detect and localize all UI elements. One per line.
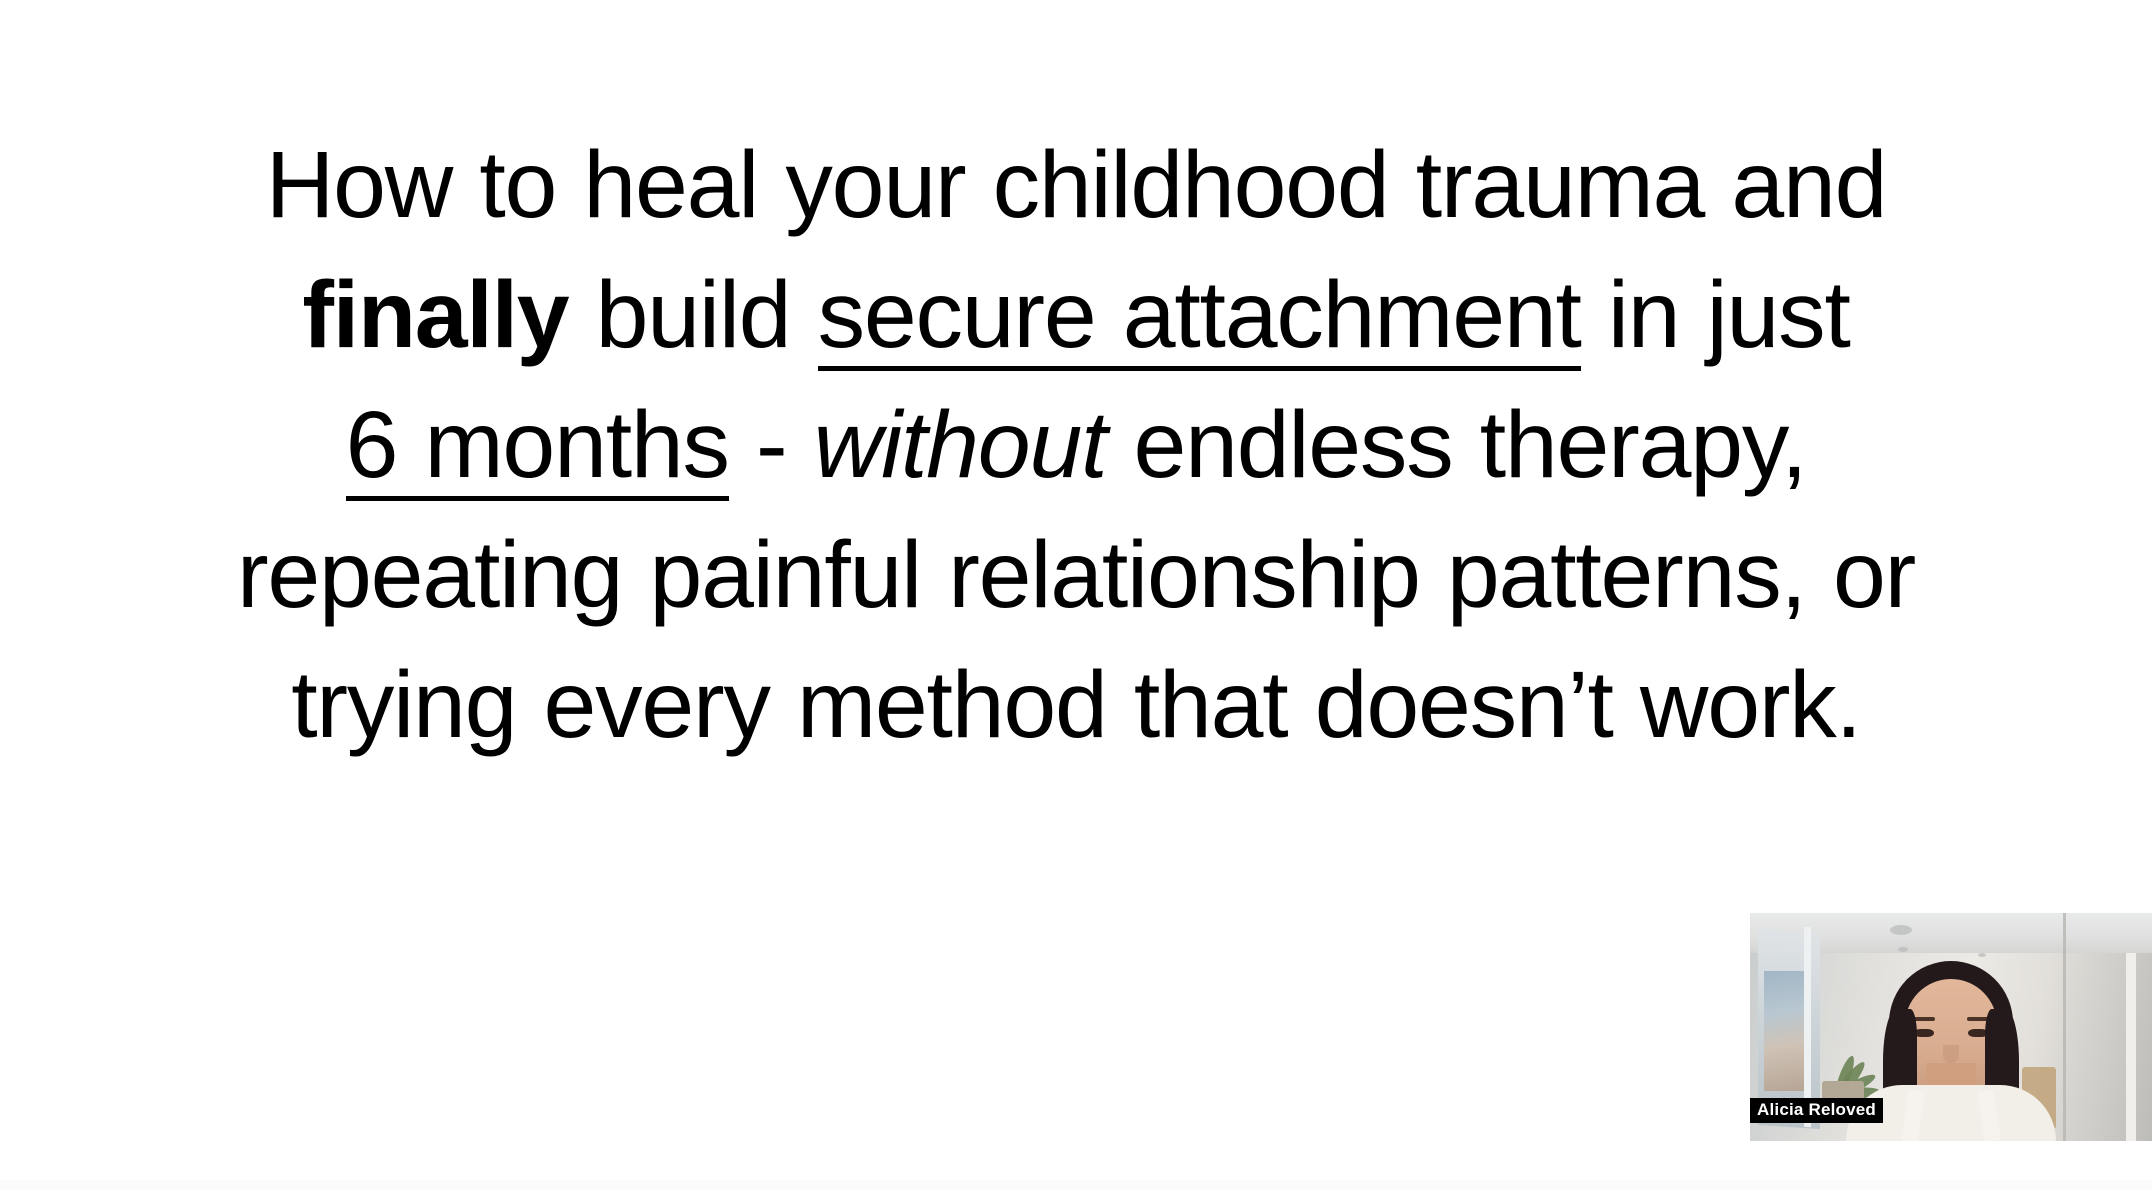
slide-headline: How to heal your childhood trauma and fi… <box>170 120 1982 770</box>
video-person-eye-left <box>1914 1029 1934 1037</box>
headline-part-3: in just <box>1581 262 1850 368</box>
video-window-glass <box>1764 971 1804 1091</box>
presentation-slide: How to heal your childhood trauma and fi… <box>0 0 2152 1190</box>
headline-part-2: build <box>568 262 817 368</box>
headline-part-1: How to heal your childhood trauma and <box>266 132 1887 238</box>
video-person-nose <box>1943 1045 1959 1063</box>
headline-bold-finally: finally <box>302 262 568 368</box>
video-wall-corner <box>2063 913 2066 1141</box>
video-door-edge <box>2126 953 2136 1141</box>
speaker-name-label: Alicia Reloved <box>1750 1098 1883 1123</box>
bottom-edge-band <box>0 1180 2152 1190</box>
speaker-video-tile[interactable]: Alicia Reloved <box>1750 913 2152 1141</box>
headline-underline-six-months: 6 months <box>346 400 729 501</box>
headline-part-4: - <box>729 392 814 498</box>
ceiling-downlight-icon <box>1890 925 1912 935</box>
headline-underline-secure-attachment: secure attachment <box>818 270 1581 371</box>
headline-italic-without: without <box>814 392 1107 498</box>
video-person-brow-left <box>1913 1017 1935 1021</box>
ceiling-downlight-icon <box>1978 953 1986 957</box>
ceiling-downlight-icon <box>1898 947 1908 952</box>
